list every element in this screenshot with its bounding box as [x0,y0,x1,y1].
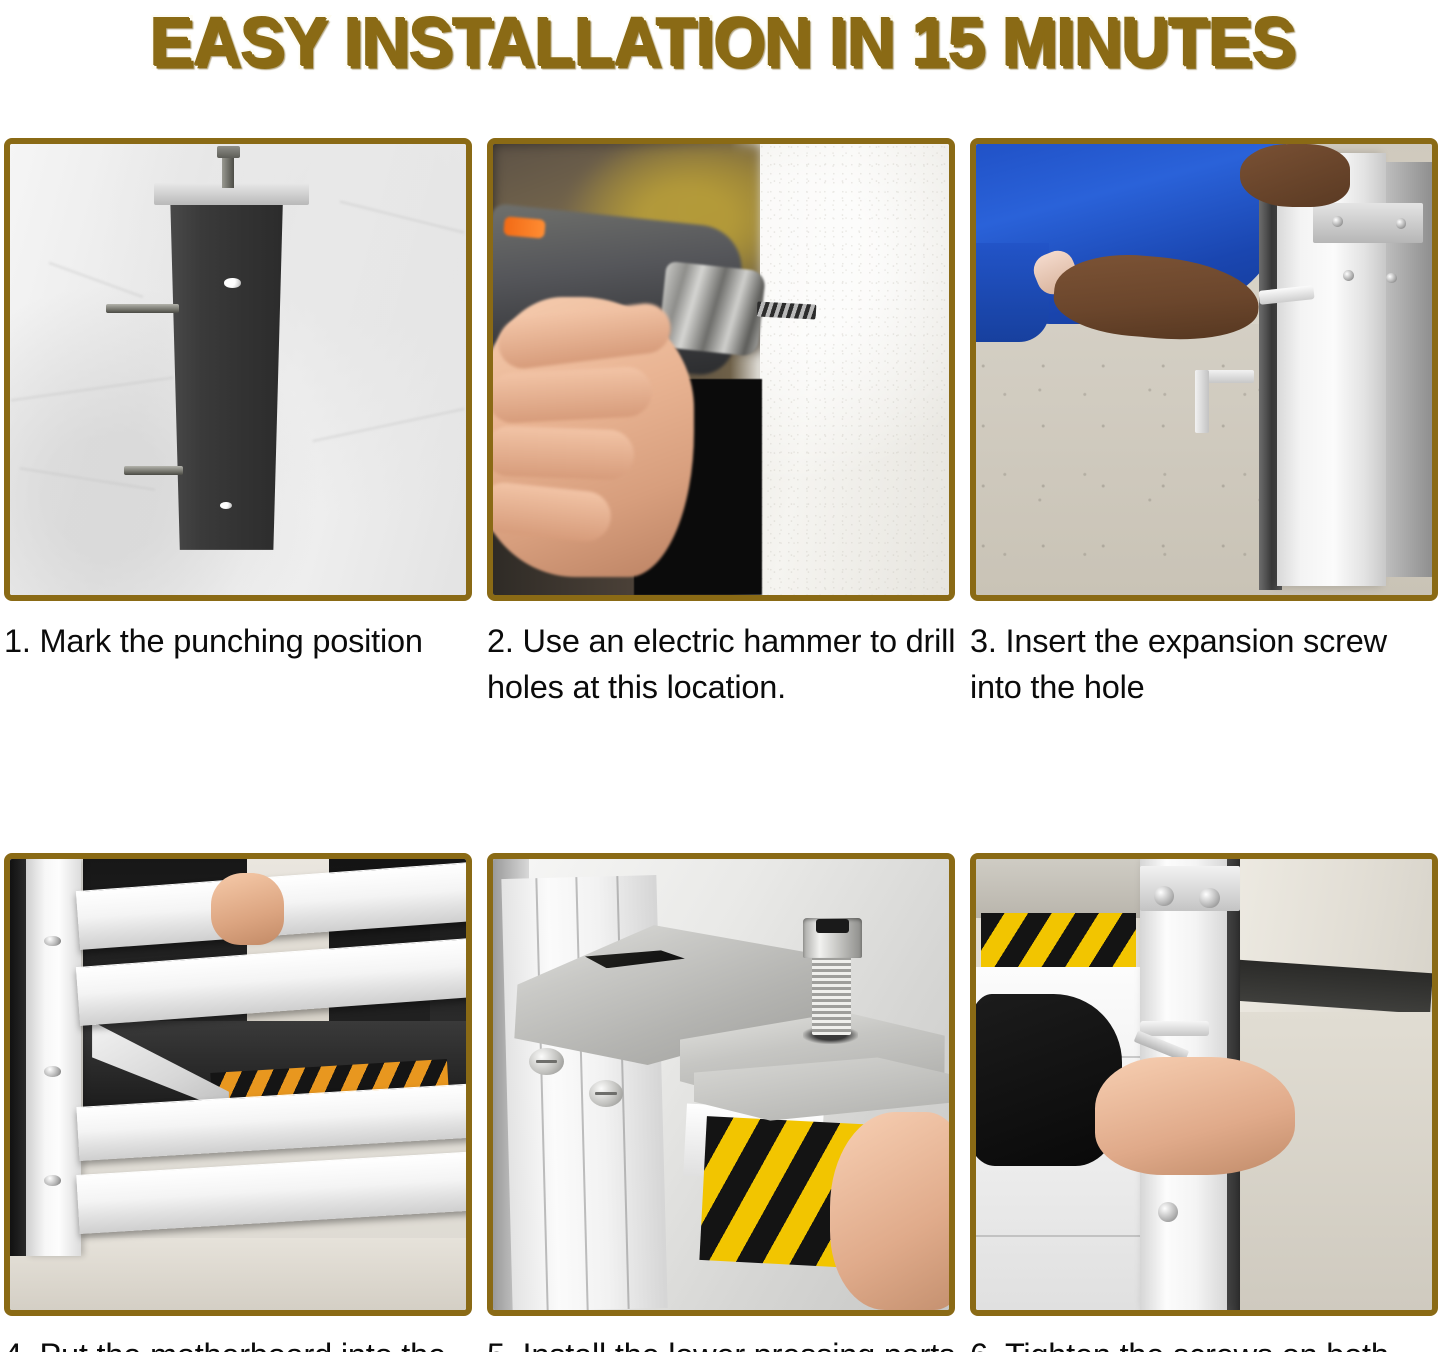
drill-chuck [658,261,767,357]
column-top-cap [1140,866,1240,911]
barrier-board-4 [77,1151,466,1233]
photo-insert-boards [10,859,466,1310]
bracket-screw-1 [529,1048,563,1075]
title-banner: EASY INSTALLATION IN 15 MINUTES [0,0,1445,86]
drill-trigger [504,217,547,239]
step-card-1: 1. Mark the punching position [4,138,472,710]
step-card-6: 6. Tighten the screws on both sides of t… [970,853,1438,1352]
step-caption-5: 5. Install the lower pressing parts on b… [487,1332,957,1352]
worker-hand-upper [1240,144,1349,207]
step-photo-frame-5 [487,853,955,1316]
step-photo-frame-6 [970,853,1438,1316]
column-post-body [165,189,288,550]
step-card-5: 5. Install the lower pressing parts on b… [487,853,955,1352]
steps-row-top: 1. Mark the punching position [4,138,1438,710]
step-photo-frame-4 [4,853,472,1316]
installer-hand [1095,1057,1296,1174]
installer-fingers [830,1112,949,1310]
white-wall [760,144,949,595]
column-with-card-slot [26,859,81,1256]
thumb-bolt-thread [812,954,851,1035]
step-photo-frame-3 [970,138,1438,601]
step-caption-1: 1. Mark the punching position [4,618,474,664]
step-photo-frame-1 [4,138,472,601]
step-caption-3: 3. Insert the expansion screw into the h… [970,618,1440,710]
step-card-2: 2. Use an electric hammer to drill holes… [487,138,955,710]
column-screw-1 [1154,886,1174,906]
photo-install-pressing-parts [493,859,949,1310]
step-caption-6: 6. Tighten the screws on both sides of t… [970,1332,1440,1352]
steps-row-bottom: 4. Put the motherboard into the card slo… [4,853,1438,1352]
installation-guide-infographic: EASY INSTALLATION IN 15 MINUTES [0,0,1445,1352]
photo-mark-punching-position [10,144,466,595]
step-card-3: 3. Insert the expansion screw into the h… [970,138,1438,710]
page-title: EASY INSTALLATION IN 15 MINUTES [150,7,1295,79]
side-bolt-lower [124,466,183,475]
step-caption-4: 4. Put the motherboard into the card slo… [4,1332,474,1352]
column-screw-2 [1199,888,1219,908]
hazard-tape [981,913,1136,967]
rod-nut [217,146,240,158]
step-caption-2: 2. Use an electric hammer to drill holes… [487,618,957,710]
thumb-bolt-head [803,918,862,959]
wrench-tool [1140,1021,1208,1035]
side-bolt-upper [106,304,179,313]
step-photo-frame-2 [487,138,955,601]
bracket-screw-2 [589,1080,623,1107]
mounting-hole-upper [224,278,240,287]
steps-grid: 1. Mark the punching position [4,138,1438,1352]
installer-hand [211,873,284,945]
column-top-plate [1313,203,1422,244]
photo-drill-holes [493,144,949,595]
row-gap [4,710,1438,853]
step-card-4: 4. Put the motherboard into the card slo… [4,853,472,1352]
photo-insert-expansion-screw [976,144,1432,595]
mounting-hole-lower [220,502,232,509]
column-screw-3 [1158,1202,1178,1222]
photo-tighten-screws [976,859,1432,1310]
drill-bit [757,301,817,319]
